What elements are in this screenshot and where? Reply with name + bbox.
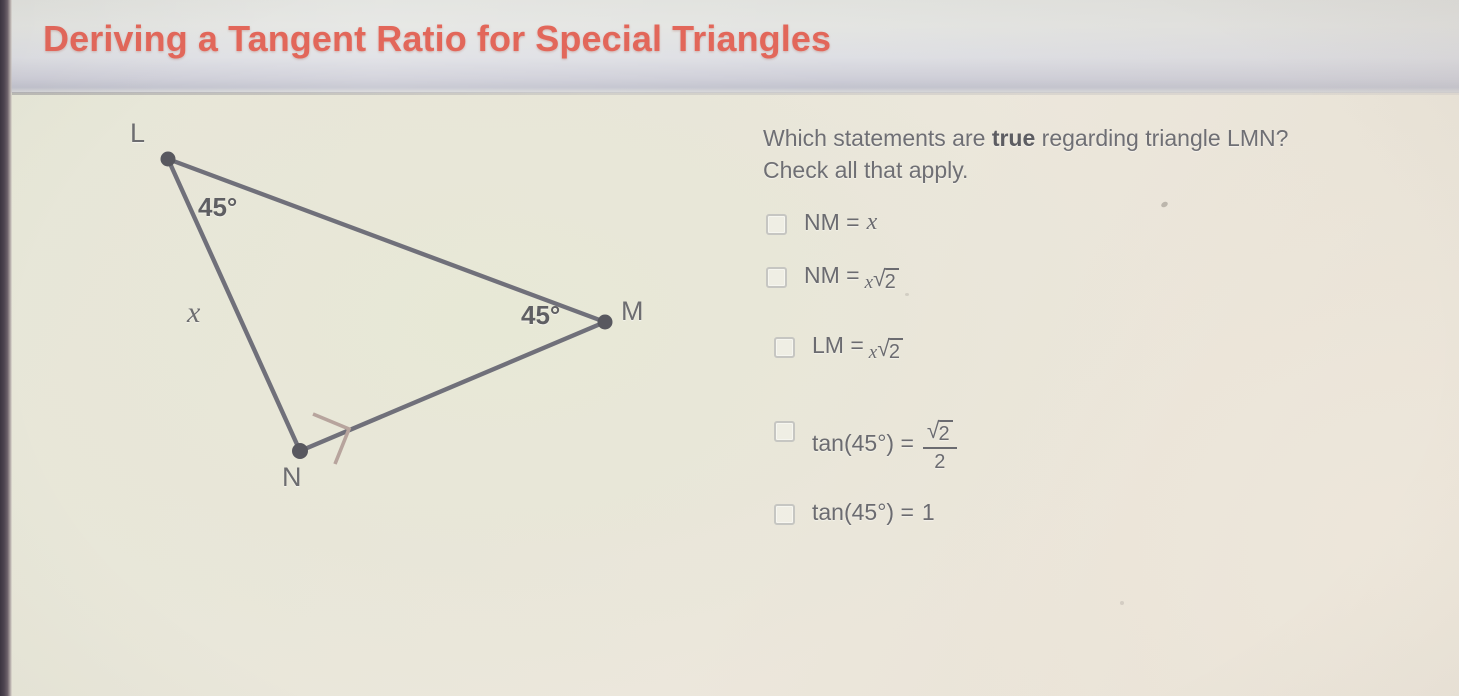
vertex-label-M: M [621,296,644,327]
header-divider [12,92,1459,95]
option-value-1: 1 [922,497,935,527]
option-label-tan45-root2-over-2: tan(45°) = √ 2 2 [812,414,957,472]
option-tan45-root2-over-2[interactable]: tan(45°) = √ 2 2 [774,414,957,472]
option-prefix: NM = [804,260,860,290]
fraction-denominator: 2 [934,449,945,474]
angle-label-M: 45° [521,300,560,331]
question-emphasis-true: true [992,125,1035,151]
vertex-dot-L [161,152,176,167]
option-label-lm-equals-x-root2: LM = x √ 2 [812,330,903,360]
checkbox-nm-equals-x-root2[interactable] [766,267,787,288]
checkbox-nm-equals-x[interactable] [766,214,787,235]
side-MN [300,322,605,451]
radical-sign-icon: √ [877,337,890,360]
option-prefix: tan(45°) = [812,428,914,458]
expression-x-sqrt2: x √ 2 [865,268,899,293]
radical-symbol: √ 2 [927,420,953,445]
question-text: Which statements are true regarding tria… [763,122,1423,186]
radicand: 2 [888,338,903,363]
option-nm-equals-x[interactable]: NM = x [766,207,877,237]
fraction-numerator: √ 2 [923,416,957,447]
expression-coefficient: x [865,273,873,292]
option-tan45-equals-1[interactable]: tan(45°) = 1 [774,497,935,527]
option-label-tan45-equals-1: tan(45°) = 1 [812,497,935,527]
checkbox-tan45-root2-over-2[interactable] [774,421,795,442]
vertex-dot-M [598,315,613,330]
photo-left-edge [0,0,12,696]
expression-coefficient: x [869,343,877,362]
checkbox-lm-equals-x-root2[interactable] [774,337,795,358]
expression-x-sqrt2: x √ 2 [869,338,903,363]
option-prefix: NM = [804,207,860,237]
radical-sign-icon: √ [927,419,940,442]
vertex-dot-N [292,443,308,459]
side-LM [168,159,605,322]
triangle-diagram: L M N 45° 45° x [60,100,720,540]
question-line1-after: regarding triangle LMN? [1035,125,1288,151]
option-label-nm-equals-x-root2: NM = x √ 2 [804,260,899,290]
question-line2: Check all that apply. [763,157,968,183]
radical-symbol: √ 2 [873,268,899,293]
option-value-x: x [867,207,878,237]
checkbox-tan45-equals-1[interactable] [774,504,795,525]
screenshot-root: Deriving a Tangent Ratio for Special Tri… [0,0,1459,696]
fraction-sqrt2-over-2: √ 2 2 [923,416,957,474]
option-nm-equals-x-root2[interactable]: NM = x √ 2 [766,260,899,290]
question-block: Which statements are true regarding tria… [763,122,1423,186]
option-prefix: LM = [812,330,864,360]
option-prefix: tan(45°) = [812,497,914,527]
question-line1-before: Which statements are [763,125,992,151]
title-bar: Deriving a Tangent Ratio for Special Tri… [0,0,1459,93]
vertex-label-N: N [282,462,302,493]
radical-symbol: √ 2 [877,338,903,363]
side-label-x: x [187,296,200,330]
radical-sign-icon: √ [873,267,886,290]
option-label-nm-equals-x: NM = x [804,207,877,237]
angle-label-L: 45° [198,192,237,223]
page-title: Deriving a Tangent Ratio for Special Tri… [43,18,831,60]
vertex-label-L: L [130,118,145,149]
option-lm-equals-x-root2[interactable]: LM = x √ 2 [774,330,903,360]
